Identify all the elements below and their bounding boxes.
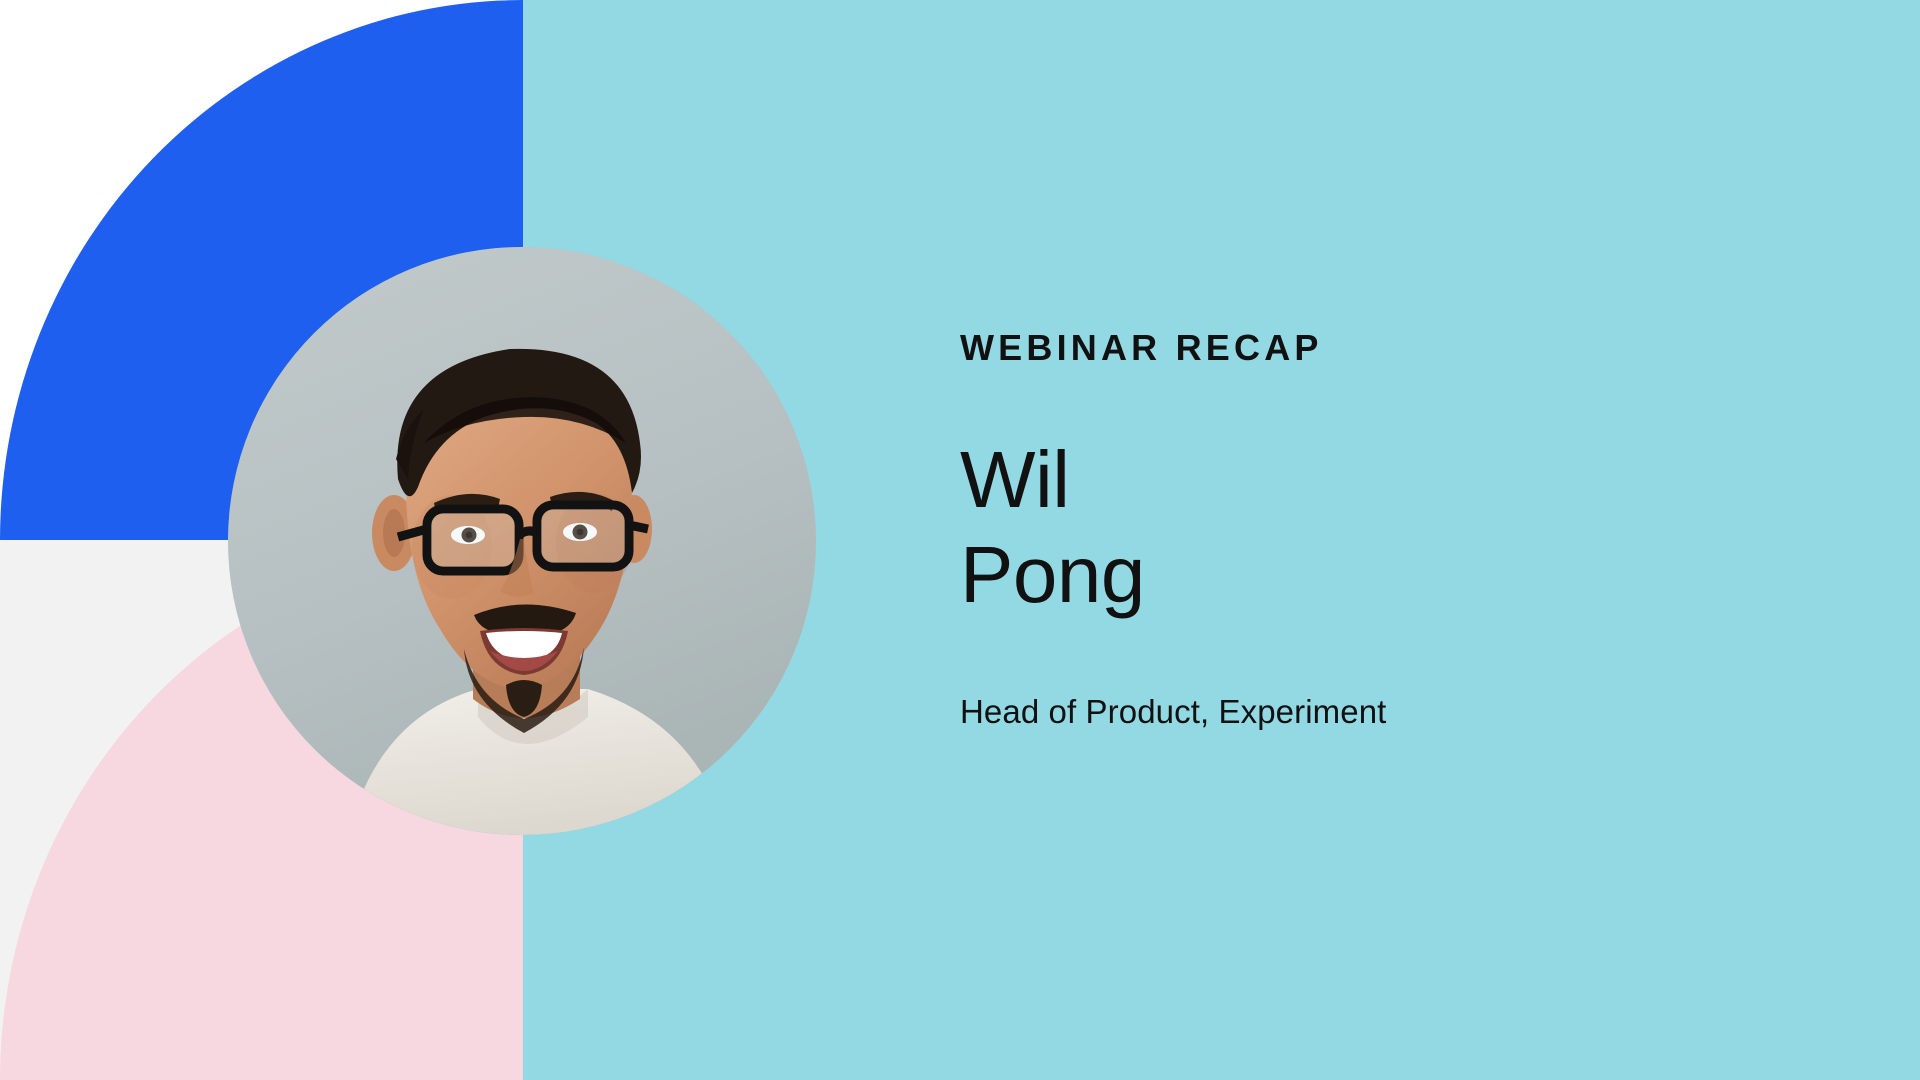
webinar-recap-slide: WEBINAR RECAP Wil Pong Head of Product, … [0, 0, 1920, 1080]
speaker-avatar [228, 247, 816, 835]
speaker-portrait-image [228, 247, 816, 835]
eyebrow-label: WEBINAR RECAP [960, 330, 1780, 366]
speaker-role: Head of Product, Experiment [960, 692, 1780, 732]
speaker-last-name: Pong [960, 527, 1780, 622]
speaker-name: Wil Pong [960, 432, 1780, 622]
speaker-first-name: Wil [960, 432, 1780, 527]
speaker-text-block: WEBINAR RECAP Wil Pong Head of Product, … [960, 330, 1780, 732]
